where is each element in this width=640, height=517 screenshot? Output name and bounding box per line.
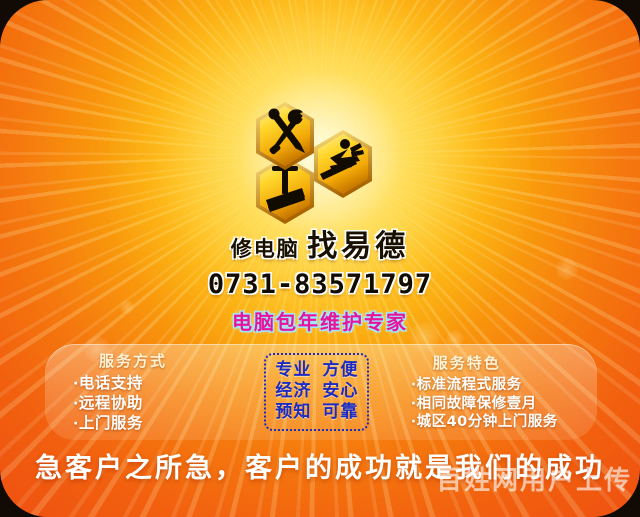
- list-item-label: 电话支持: [79, 374, 143, 392]
- list-item-label: 相同故障保修壹月: [417, 396, 537, 412]
- value-row: 专业方便: [275, 360, 358, 381]
- phone-number: 0731-83571797: [0, 269, 640, 300]
- service-methods-column: 服务方式 ·电话支持 ·远程协助 ·上门服务: [63, 350, 243, 434]
- hexagon-tools: [256, 102, 314, 170]
- headline-main: 修电脑 找易德: [0, 232, 640, 262]
- value-badge: 专业方便 经济安心 预知可靠: [264, 353, 369, 430]
- value-row: 预知可靠: [275, 402, 358, 423]
- list-item: ·电话支持: [73, 374, 233, 394]
- tagline: 电脑包年维护专家: [0, 306, 640, 335]
- poster-root: 修电脑 找易德 0731-83571797 电脑包年维护专家 服务方式 ·电话支…: [0, 0, 640, 517]
- value-word: 安心: [322, 381, 358, 402]
- poster-card: 修电脑 找易德 0731-83571797 电脑包年维护专家 服务方式 ·电话支…: [0, 0, 640, 517]
- headline-block: 修电脑 找易德 0731-83571797 电脑包年维护专家: [0, 232, 640, 335]
- list-item-label: 远程协助: [79, 394, 143, 412]
- value-word: 预知: [275, 402, 311, 423]
- info-panel: 服务方式 ·电话支持 ·远程协助 ·上门服务 专业方便 经济安心 预知可靠 服务…: [45, 344, 597, 440]
- headline-big: 找易德: [307, 229, 409, 264]
- list-item: ·远程协助: [73, 394, 233, 414]
- list-item: ·相同故障保修壹月: [411, 395, 587, 414]
- list-item: ·城区40分钟上门服务: [411, 413, 587, 432]
- list-item-label: 上门服务: [79, 414, 143, 432]
- value-word: 专业: [275, 360, 311, 381]
- service-features-column: 服务特色 ·标准流程式服务 ·相同故障保修壹月 ·城区40分钟上门服务: [401, 352, 597, 433]
- logo: [238, 98, 402, 226]
- watermark: 百姓网用户上传: [436, 460, 632, 497]
- value-word: 经济: [275, 381, 311, 402]
- list-item: ·标准流程式服务: [411, 376, 587, 395]
- list-item: ·上门服务: [73, 414, 233, 434]
- list-item-label: 标准流程式服务: [417, 377, 522, 393]
- value-row: 经济安心: [275, 381, 358, 402]
- list-item-label: 城区40分钟上门服务: [417, 414, 558, 430]
- value-word: 可靠: [322, 402, 358, 423]
- slogan-badge-column: 专业方便 经济安心 预知可靠: [243, 353, 391, 430]
- service-methods-title: 服务方式: [99, 350, 233, 371]
- headline-small: 修电脑: [231, 237, 300, 261]
- service-features-title: 服务特色: [433, 352, 587, 373]
- hexagon-runner: [314, 130, 372, 198]
- value-word: 方便: [322, 360, 358, 381]
